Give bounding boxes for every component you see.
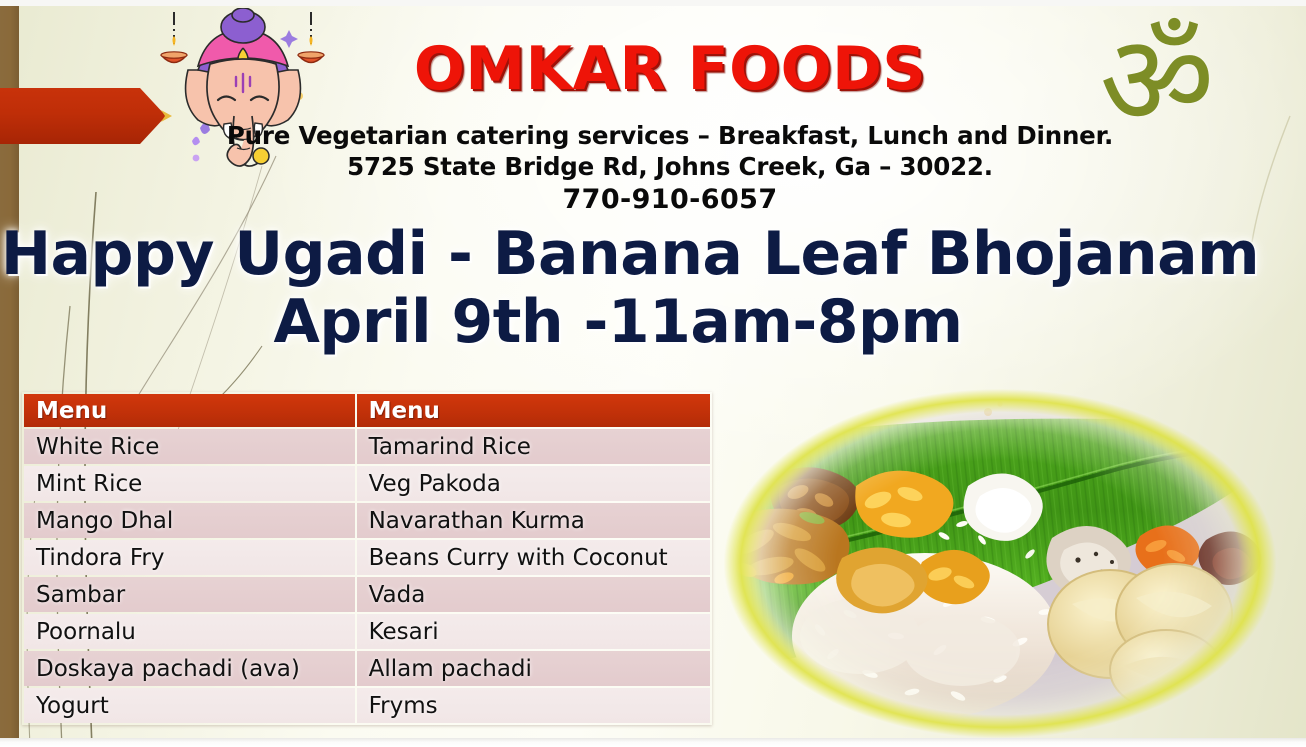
- menu-item: Tamarind Rice: [357, 429, 710, 464]
- menu-item: Tindora Fry: [24, 540, 355, 575]
- menu-item: Fryms: [357, 688, 710, 723]
- poster-canvas: ॐ OMKAR FOODS Pure Vegetarian catering s…: [0, 6, 1306, 739]
- menu-item: Vada: [357, 577, 710, 612]
- ugadi-menu-poster: ॐ OMKAR FOODS Pure Vegetarian catering s…: [0, 0, 1306, 747]
- menu-item: Poornalu: [24, 614, 355, 649]
- menu-item: Mango Dhal: [24, 503, 355, 538]
- event-headline-line1: Happy Ugadi - Banana Leaf Bhojanam: [0, 219, 1260, 289]
- banana-leaf-meal-illustration: [700, 374, 1300, 739]
- menu-row: Doskaya pachadi (ava) Allam pachadi: [24, 651, 710, 686]
- food-photo: [700, 374, 1300, 739]
- menu-row: Sambar Vada: [24, 577, 710, 612]
- menu-row: Mango Dhal Navarathan Kurma: [24, 503, 710, 538]
- menu-item: Mint Rice: [24, 466, 355, 501]
- diya-right-icon: [298, 12, 324, 63]
- menu-row: Poornalu Kesari: [24, 614, 710, 649]
- diya-left-icon: [161, 12, 187, 63]
- brand-tagline: Pure Vegetarian catering services – Brea…: [205, 121, 1135, 150]
- bottom-white-strip: [0, 738, 1306, 747]
- menu-item: Beans Curry with Coconut: [357, 540, 710, 575]
- menu-header-col2: Menu: [357, 394, 710, 427]
- top-white-strip: [0, 0, 1306, 6]
- menu-item: White Rice: [24, 429, 355, 464]
- menu-row: Yogurt Fryms: [24, 688, 710, 723]
- menu-item: Yogurt: [24, 688, 355, 723]
- menu-item: Veg Pakoda: [357, 466, 710, 501]
- menu-row: Tindora Fry Beans Curry with Coconut: [24, 540, 710, 575]
- menu-item: Allam pachadi: [357, 651, 710, 686]
- brand-title: OMKAR FOODS: [330, 34, 1010, 104]
- menu-row: White Rice Tamarind Rice: [24, 429, 710, 464]
- menu-header-col1: Menu: [24, 394, 355, 427]
- menu-row: Mint Rice Veg Pakoda: [24, 466, 710, 501]
- menu-item: Kesari: [357, 614, 710, 649]
- menu-item: Sambar: [24, 577, 355, 612]
- brand-phone: 770-910-6057: [205, 184, 1135, 215]
- menu-item: Doskaya pachadi (ava): [24, 651, 355, 686]
- menu-item: Navarathan Kurma: [357, 503, 710, 538]
- event-headline-line2: April 9th -11am-8pm: [0, 287, 1236, 357]
- brand-address: 5725 State Bridge Rd, Johns Creek, Ga – …: [205, 152, 1135, 181]
- menu-table: Menu Menu White Rice Tamarind Rice Mint …: [22, 392, 712, 725]
- menu-header-row: Menu Menu: [24, 394, 710, 427]
